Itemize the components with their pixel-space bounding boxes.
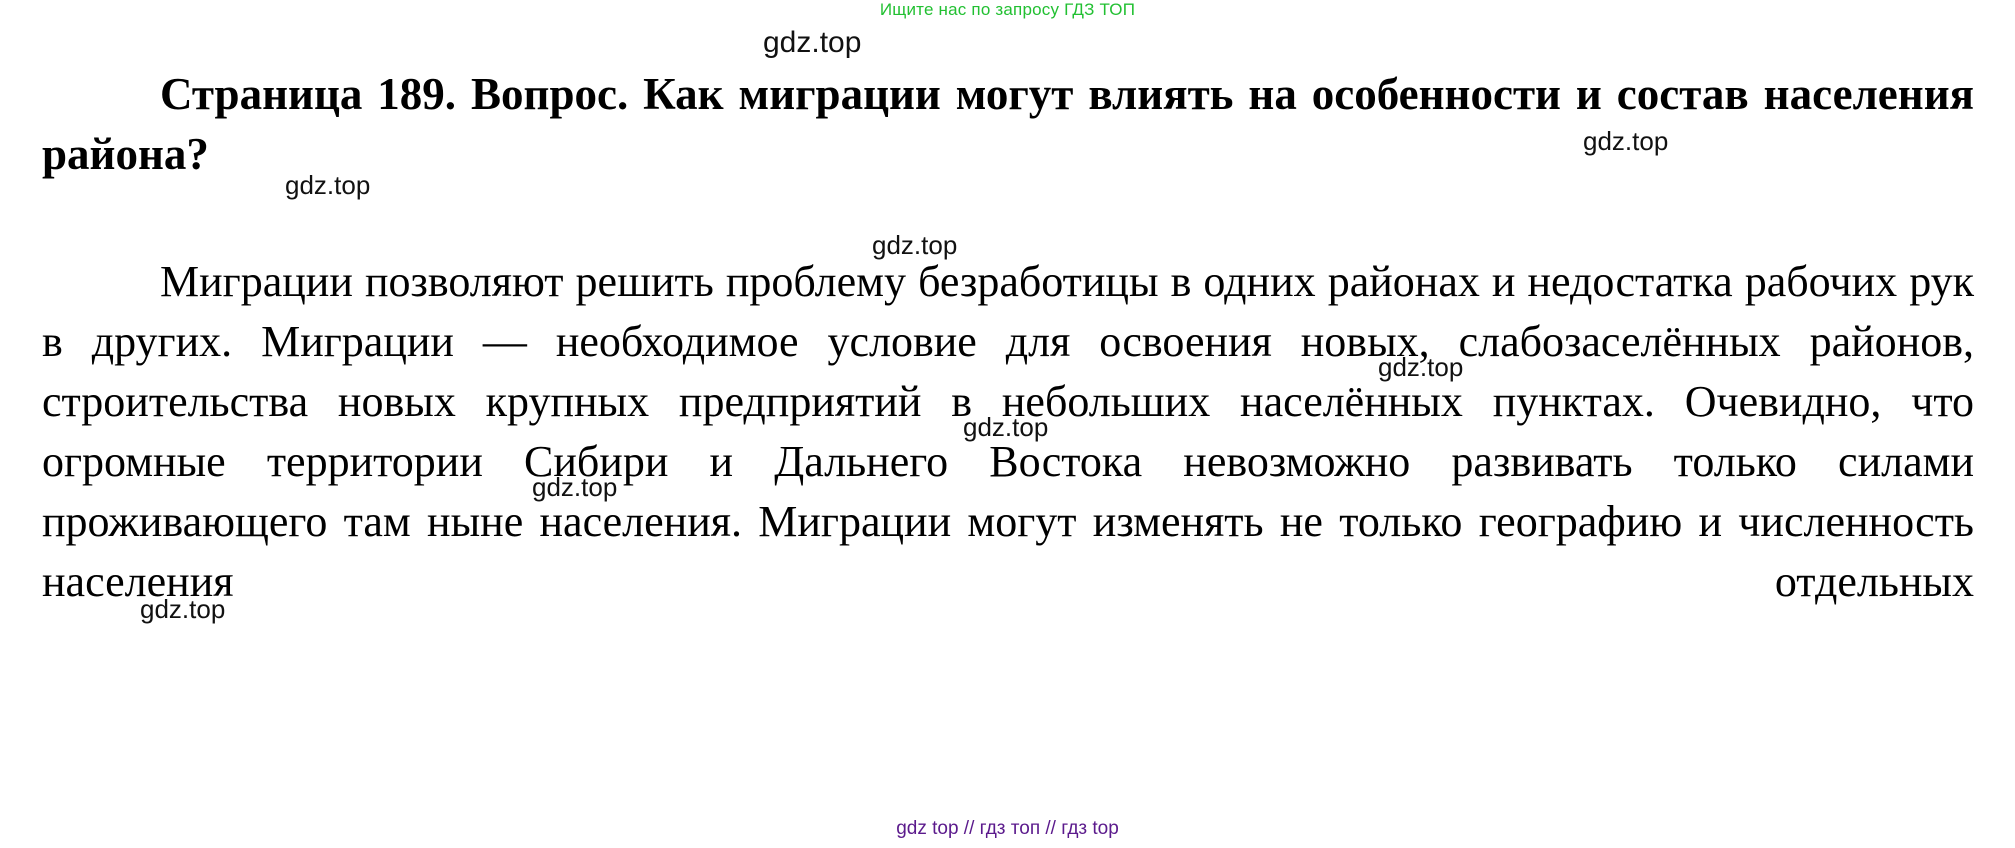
promo-banner-text: Ищите нас по запросу ГДЗ ТОП xyxy=(0,0,2015,20)
footer-credits: gdz top // гдз топ // гдз top xyxy=(0,818,2015,840)
watermark-top: gdz.top xyxy=(763,26,861,60)
document-page: Ищите нас по запросу ГДЗ ТОП gdz.top Стр… xyxy=(0,0,2015,848)
page-title: Страница 189. Вопрос. Как миграции могут… xyxy=(42,64,1974,244)
answer-paragraph: Миграции позволяют решить проблему безра… xyxy=(42,244,1974,672)
article-content: Страница 189. Вопрос. Как миграции могут… xyxy=(42,64,1974,672)
